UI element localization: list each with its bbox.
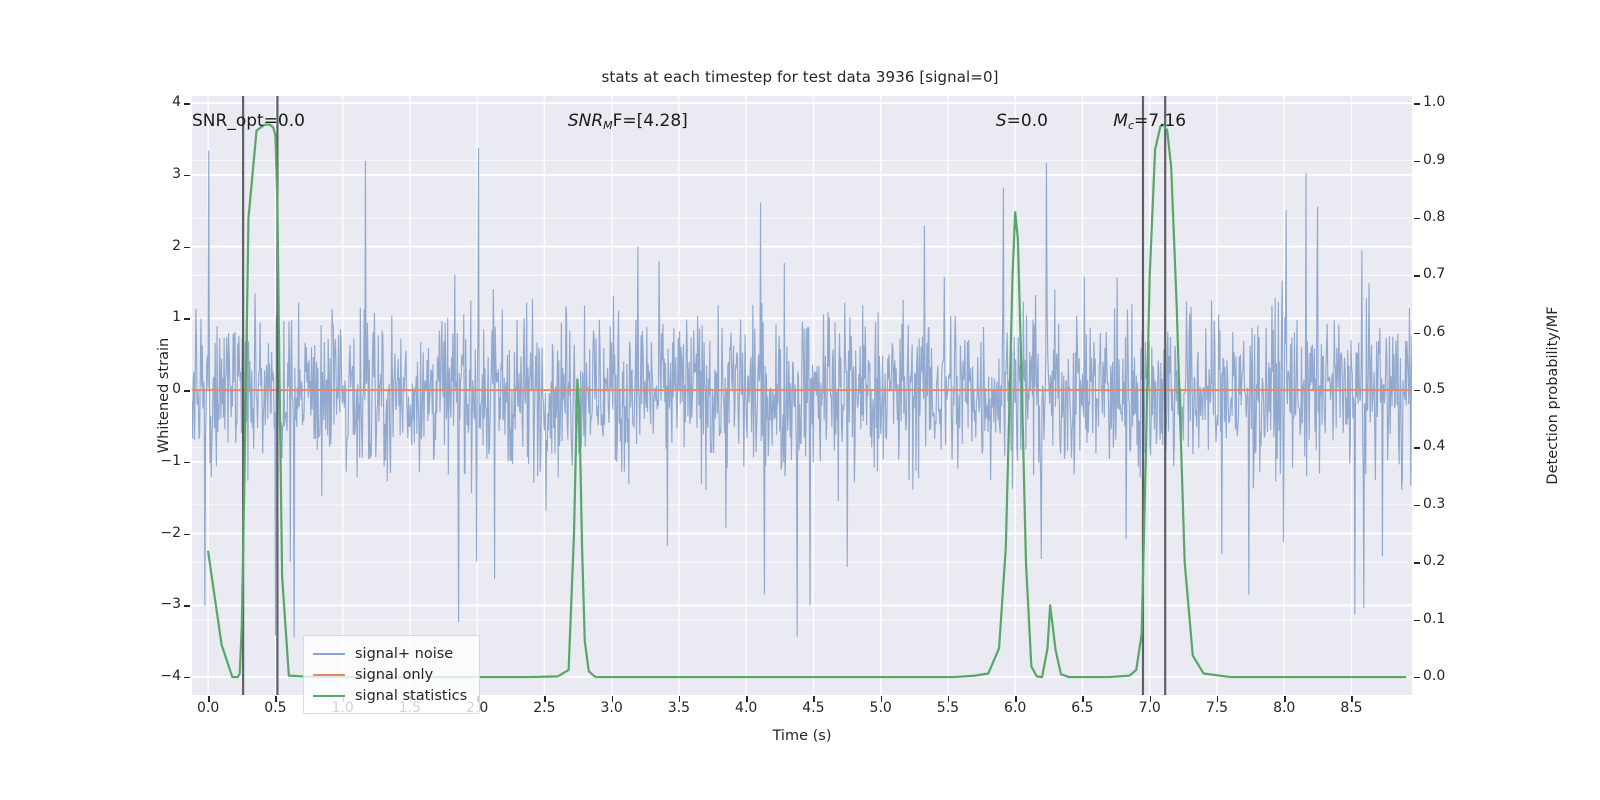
- y-tick-mark-right-4: [1414, 333, 1420, 334]
- x-tick-mark-9: [813, 696, 814, 702]
- matplotlib-figure: stats at each timestep for test data 393…: [0, 0, 1600, 800]
- y-axis-right-label: Detection probability/MF: [1541, 96, 1565, 695]
- legend-label-signal-only: signal only: [355, 667, 433, 683]
- x-tick-0: 0.0: [178, 700, 238, 716]
- y-tick-right-8: 0.2: [1423, 553, 1493, 569]
- series-signal-plus-noise: [192, 148, 1412, 637]
- y-tick-mark-right-1: [1414, 161, 1420, 162]
- legend-label-signal-plus-noise: signal+ noise: [355, 646, 453, 662]
- x-tick-mark-6: [612, 696, 613, 702]
- y-tick-right-5: 0.5: [1423, 381, 1493, 397]
- x-tick-5: 2.5: [514, 700, 574, 716]
- legend-item-signal-plus-noise[interactable]: signal+ noise: [313, 643, 467, 664]
- annotation-snr-mf: SNRMF=[4.28]: [568, 111, 688, 132]
- y-tick-mark-right-8: [1414, 562, 1420, 563]
- x-tick-10: 5.0: [851, 700, 911, 716]
- y-tick-mark-right-9: [1414, 620, 1420, 621]
- x-tick-mark-7: [679, 696, 680, 702]
- annotation-snr-opt: SNR_opt=0.0: [192, 111, 305, 131]
- y-tick-mark-right-0: [1414, 103, 1420, 104]
- y-tick-right-0: 1.0: [1423, 94, 1493, 110]
- y-tick-right-3: 0.7: [1423, 266, 1493, 282]
- chart-legend[interactable]: signal+ noise signal only signal statist…: [303, 635, 480, 714]
- x-tick-mark-16: [1284, 696, 1285, 702]
- x-tick-9: 4.5: [783, 700, 843, 716]
- y-tick-mark-right-5: [1414, 390, 1420, 391]
- x-tick-mark-12: [1015, 696, 1016, 702]
- x-tick-12: 6.0: [985, 700, 1045, 716]
- page-title: stats at each timestep for test data 393…: [0, 68, 1600, 86]
- y-tick-right-6: 0.4: [1423, 438, 1493, 454]
- y-tick-right-7: 0.3: [1423, 496, 1493, 512]
- y-tick-mark-left-8: [184, 677, 190, 678]
- x-tick-mark-10: [881, 696, 882, 702]
- plot-area: SNR_opt=0.0 SNRMF=[4.28] S=0.0 Mc=7.16: [192, 96, 1412, 695]
- y-tick-mark-left-3: [184, 318, 190, 319]
- legend-item-signal-statistics[interactable]: signal statistics: [313, 685, 467, 706]
- annotation-s-stat: S=0.0: [996, 111, 1048, 131]
- y-tick-mark-left-5: [184, 462, 190, 463]
- y-tick-mark-right-7: [1414, 505, 1420, 506]
- x-tick-mark-13: [1082, 696, 1083, 702]
- y-tick-mark-left-6: [184, 534, 190, 535]
- y-tick-right-10: 0.0: [1423, 668, 1493, 684]
- y-tick-right-9: 0.1: [1423, 611, 1493, 627]
- annotation-chirp-mass: Mc=7.16: [1113, 111, 1186, 132]
- x-tick-6: 3.0: [582, 700, 642, 716]
- x-tick-11: 5.5: [918, 700, 978, 716]
- x-tick-17: 8.5: [1321, 700, 1381, 716]
- x-tick-1: 0.5: [245, 700, 305, 716]
- y-tick-mark-left-7: [184, 605, 190, 606]
- x-tick-mark-5: [544, 696, 545, 702]
- x-tick-mark-14: [1150, 696, 1151, 702]
- y-tick-mark-right-3: [1414, 275, 1420, 276]
- y-tick-mark-right-2: [1414, 218, 1420, 219]
- x-tick-15: 7.5: [1187, 700, 1247, 716]
- legend-item-signal-only[interactable]: signal only: [313, 664, 467, 685]
- y-tick-right-1: 0.9: [1423, 152, 1493, 168]
- y-tick-mark-left-0: [184, 103, 190, 104]
- y-tick-right-4: 0.6: [1423, 324, 1493, 340]
- x-tick-13: 6.5: [1052, 700, 1112, 716]
- x-tick-mark-1: [275, 696, 276, 702]
- x-tick-8: 4.0: [716, 700, 776, 716]
- y-axis-left-label: Whitened strain: [152, 96, 176, 695]
- x-tick-mark-11: [948, 696, 949, 702]
- y-tick-mark-right-6: [1414, 447, 1420, 448]
- x-tick-14: 7.0: [1120, 700, 1180, 716]
- legend-swatch-signal-only: [313, 674, 345, 676]
- x-tick-16: 8.0: [1254, 700, 1314, 716]
- y-tick-right-2: 0.8: [1423, 209, 1493, 225]
- y-tick-mark-right-10: [1414, 677, 1420, 678]
- x-axis-label: Time (s): [192, 728, 1412, 744]
- x-tick-mark-15: [1217, 696, 1218, 702]
- y-tick-mark-left-2: [184, 247, 190, 248]
- x-tick-7: 3.5: [649, 700, 709, 716]
- x-tick-mark-17: [1351, 696, 1352, 702]
- plot-canvas: [192, 96, 1412, 695]
- y-tick-mark-left-1: [184, 175, 190, 176]
- legend-swatch-signal-plus-noise: [313, 653, 345, 655]
- x-tick-mark-0: [208, 696, 209, 702]
- legend-label-signal-statistics: signal statistics: [355, 688, 467, 704]
- legend-swatch-signal-statistics: [313, 695, 345, 697]
- x-tick-mark-8: [746, 696, 747, 702]
- y-tick-mark-left-4: [184, 390, 190, 391]
